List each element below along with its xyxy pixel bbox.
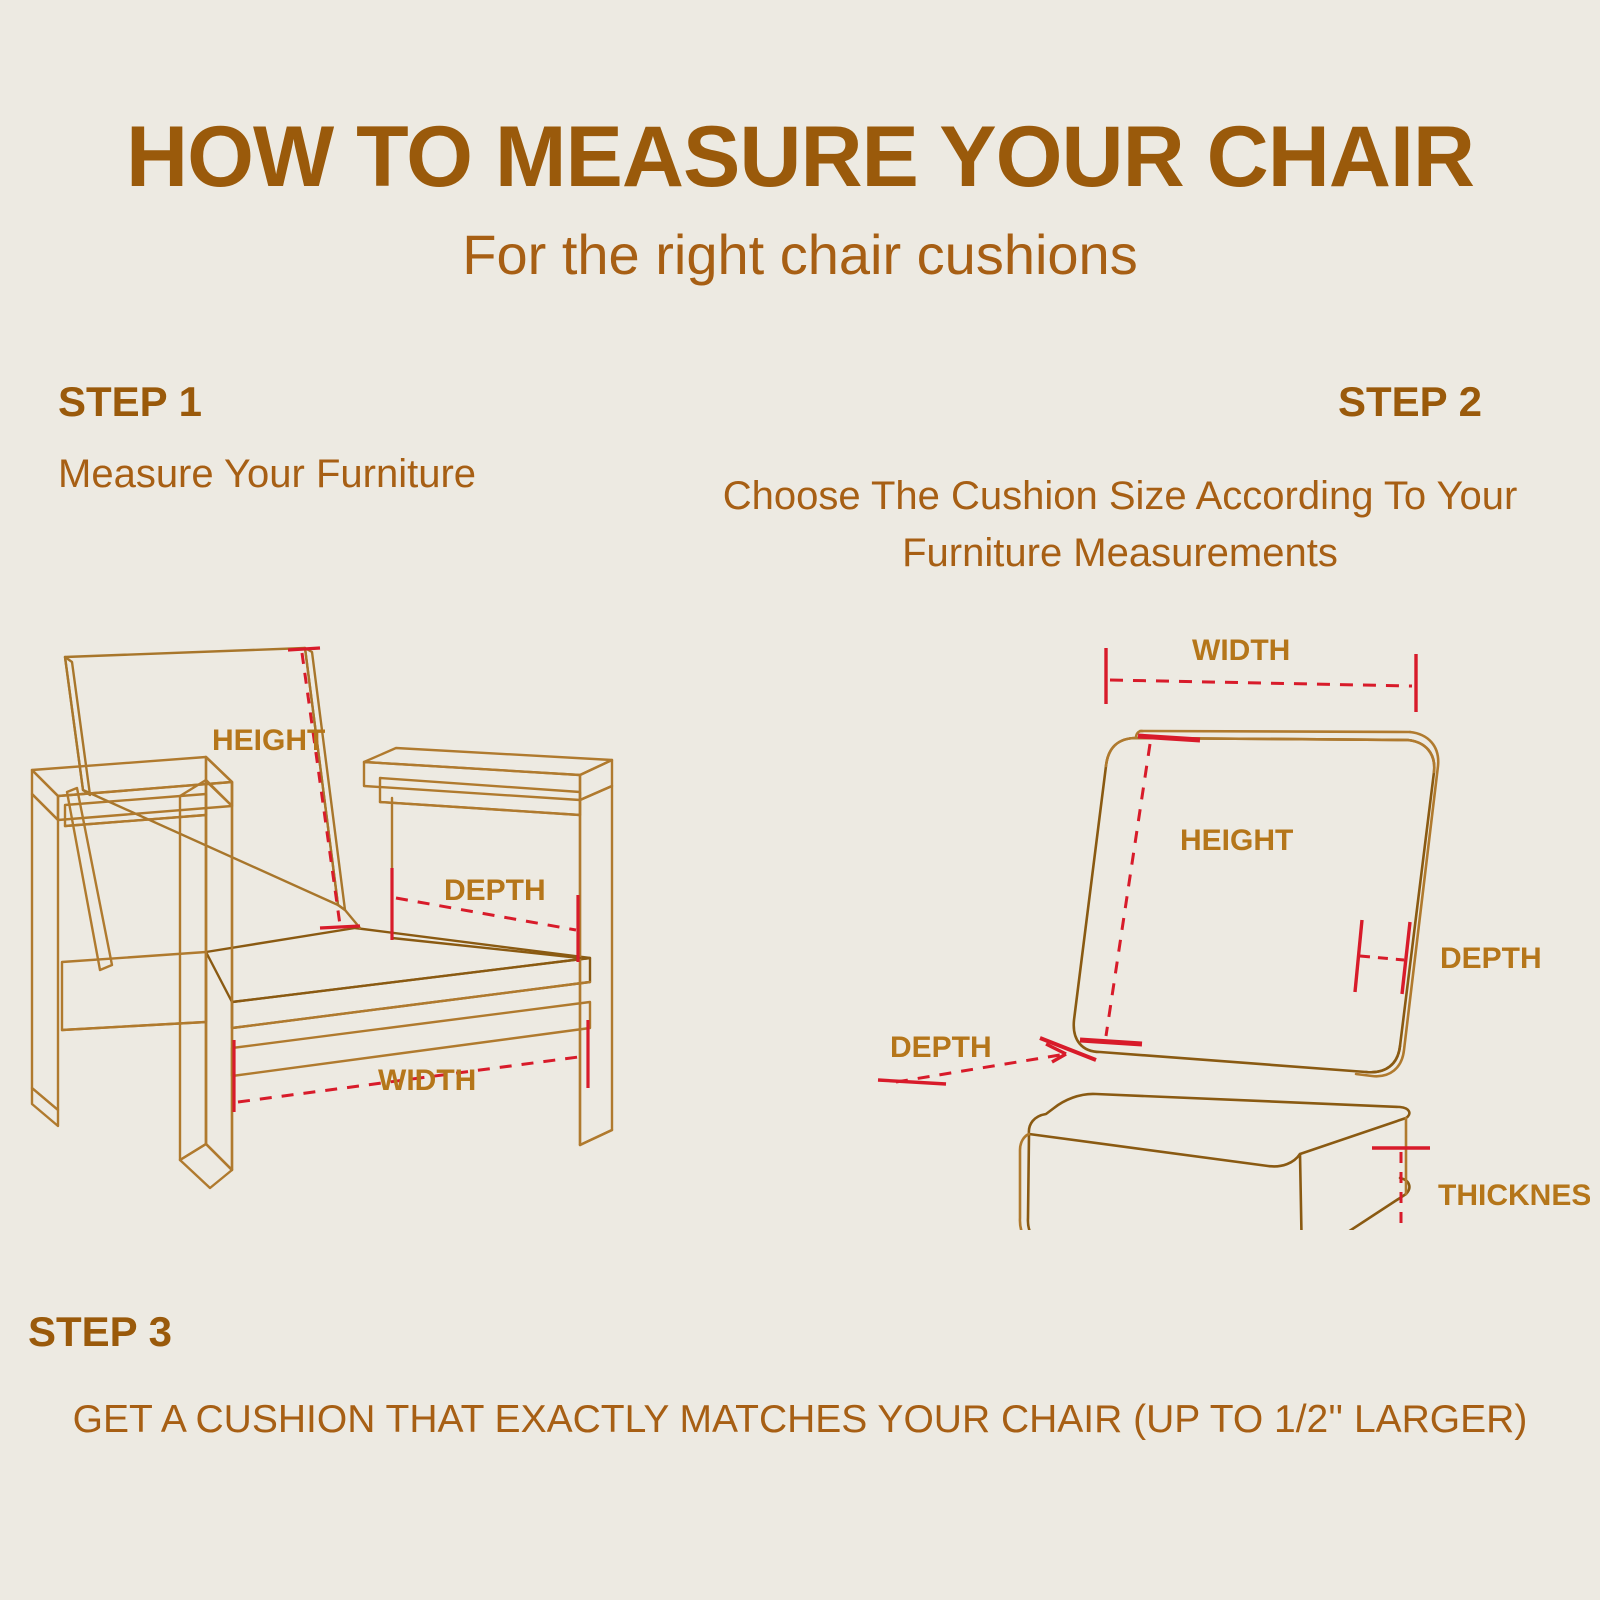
infographic-page: HOW TO MEASURE YOUR CHAIR For the right … — [0, 0, 1600, 1600]
chair-frame-illustration: HEIGHT DEPTH WIDTH — [20, 610, 680, 1235]
chair-height-label: HEIGHT — [212, 724, 325, 757]
chair-width-label: WIDTH — [378, 1064, 476, 1097]
step-2-description: Choose The Cushion Size According To You… — [720, 468, 1520, 582]
chair-depth-label: DEPTH — [444, 874, 546, 907]
step-3-label: STEP 3 — [28, 1308, 172, 1356]
step-3-description: GET A CUSHION THAT EXACTLY MATCHES YOUR … — [0, 1398, 1600, 1442]
cushion-back-height-label: HEIGHT — [1180, 824, 1293, 857]
step-1-description: Measure Your Furniture — [58, 452, 476, 497]
step-2-label: STEP 2 — [1338, 378, 1482, 426]
page-title: HOW TO MEASURE YOUR CHAIR — [0, 108, 1600, 207]
cushion-seat-thickness-label: THICKNESS — [1438, 1179, 1590, 1212]
cushion-set-illustration: WIDTH HEIGHT DEPTH DEPTH THICKNESS WIDTH — [850, 620, 1590, 1235]
cushion-seat-depth-label: DEPTH — [890, 1031, 992, 1064]
step-1-label: STEP 1 — [58, 378, 202, 426]
cushion-back-width-label: WIDTH — [1192, 634, 1290, 667]
cushion-back-depth-label: DEPTH — [1440, 942, 1542, 975]
page-subtitle: For the right chair cushions — [0, 222, 1600, 287]
